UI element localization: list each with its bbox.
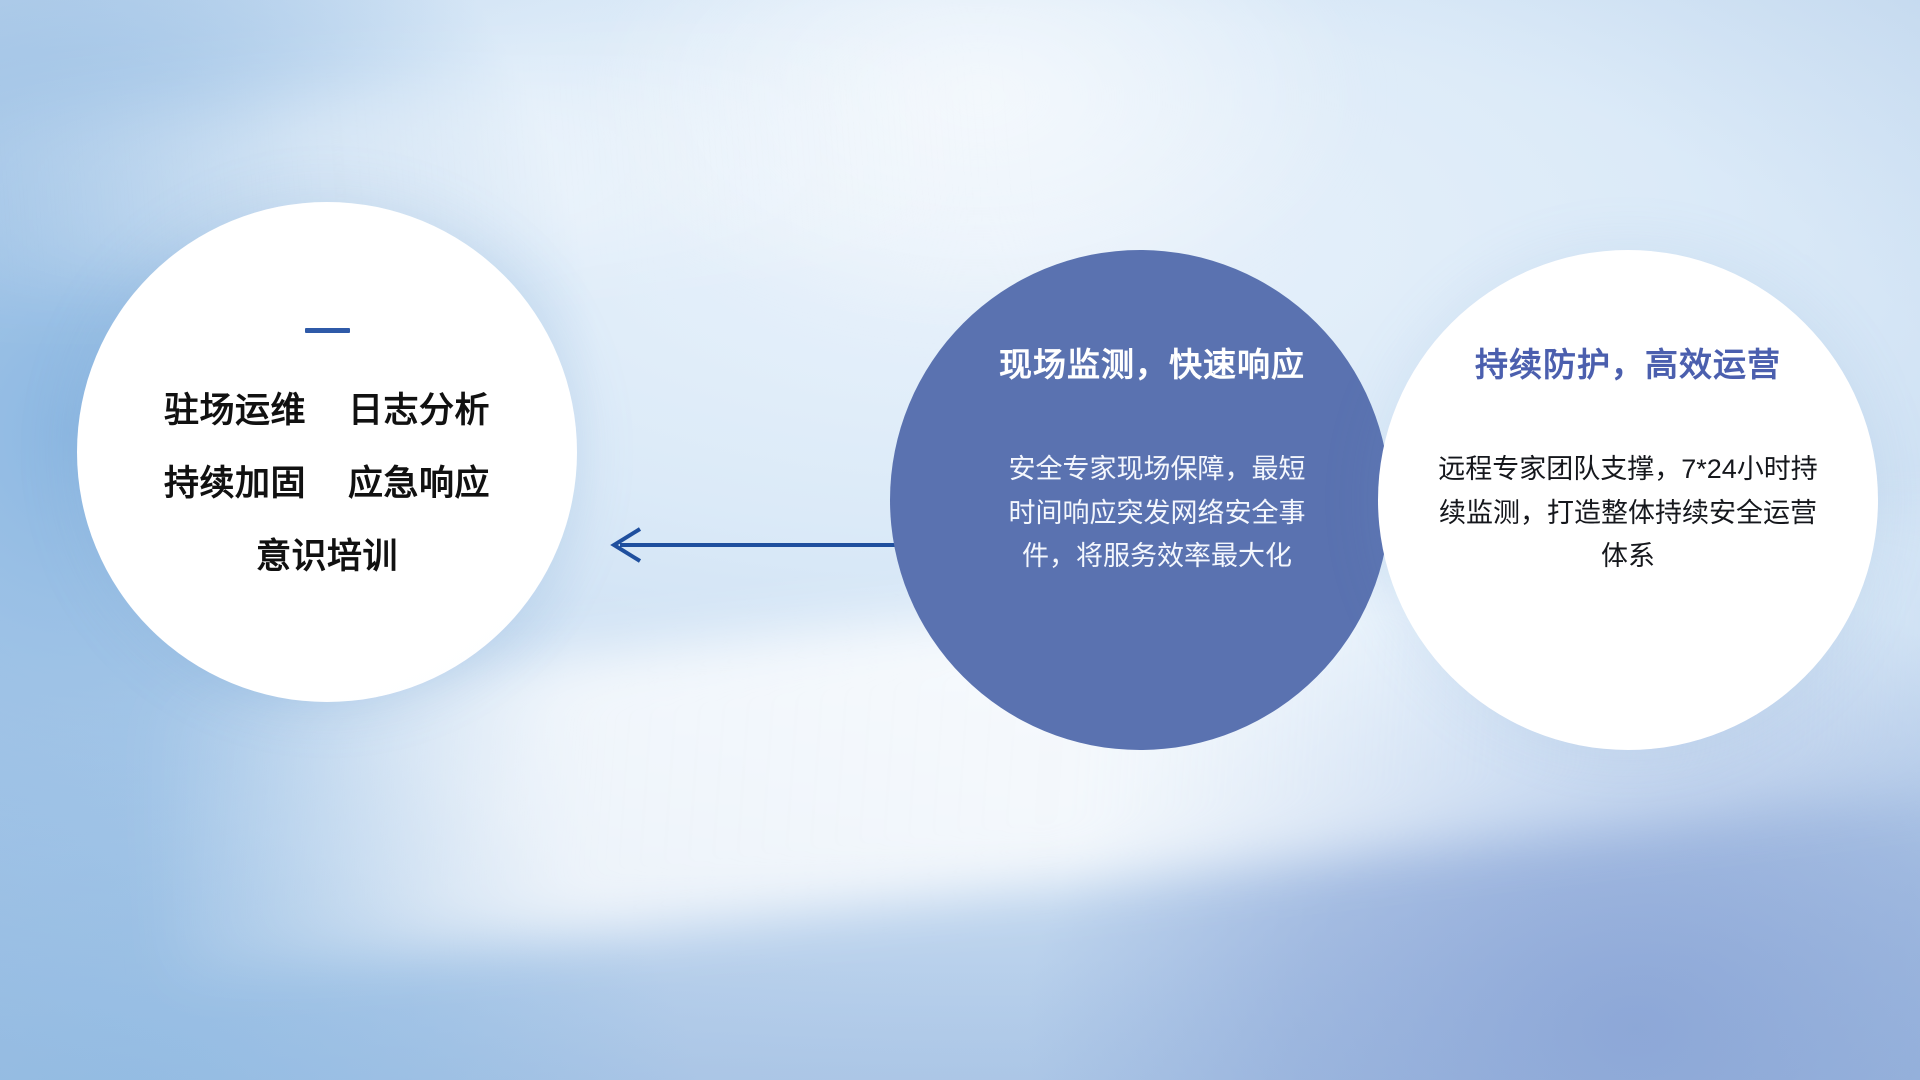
- capability-item-log-analysis: 日志分析: [348, 393, 490, 430]
- onsite-monitoring-circle[interactable]: 现场监测，快速响应 安全专家现场保障，最短时间响应突发网络安全事件，将服务效率最…: [890, 250, 1390, 750]
- arrow-connector-left: [596, 520, 926, 570]
- left-circle-divider: [305, 328, 350, 333]
- middle-circle-content: 现场监测，快速响应 安全专家现场保障，最短时间响应突发网络安全事件，将服务效率最…: [890, 250, 1390, 750]
- arrow-left-icon: [596, 520, 926, 570]
- capability-row: 意识培训: [256, 539, 398, 576]
- capability-item-emergency-response: 应急响应: [348, 466, 490, 503]
- right-circle-content: 持续防护，高效运营 远程专家团队支撑，7*24小时持续监测，打造整体持续安全运营…: [1378, 250, 1878, 750]
- capability-row: 驻场运维 日志分析: [164, 393, 490, 430]
- capability-item-onsite-ops: 驻场运维: [164, 393, 306, 430]
- left-circle-content: 驻场运维 日志分析 持续加固 应急响应 意识培训: [77, 202, 577, 702]
- capability-row: 持续加固 应急响应: [164, 466, 490, 503]
- middle-circle-title: 现场监测，快速响应: [999, 338, 1305, 386]
- middle-circle-body: 安全专家现场保障，最短时间响应突发网络安全事件，将服务效率最大化: [1007, 448, 1307, 579]
- right-circle-title: 持续防护，高效运营: [1475, 338, 1781, 386]
- service-capabilities-circle[interactable]: 驻场运维 日志分析 持续加固 应急响应 意识培训: [77, 202, 577, 702]
- capability-item-continuous-hardening: 持续加固: [164, 466, 306, 503]
- right-circle-body: 远程专家团队支撑，7*24小时持续监测，打造整体持续安全运营体系: [1438, 448, 1818, 579]
- capability-item-awareness-training: 意识培训: [256, 539, 398, 576]
- continuous-protection-circle[interactable]: 持续防护，高效运营 远程专家团队支撑，7*24小时持续监测，打造整体持续安全运营…: [1378, 250, 1878, 750]
